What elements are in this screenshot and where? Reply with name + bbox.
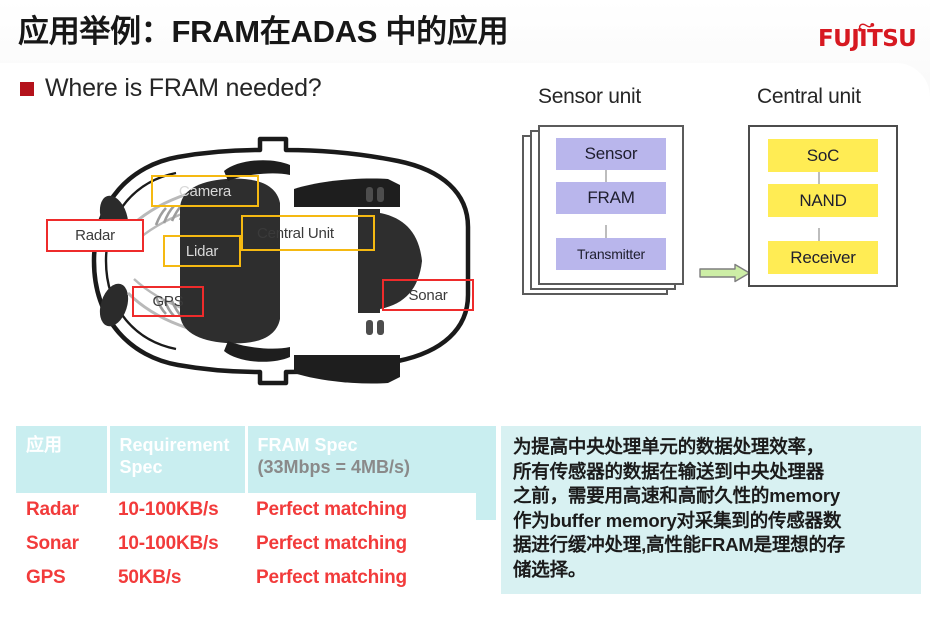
central-connector-2	[818, 228, 820, 242]
cell-fram: Perfect matching	[246, 561, 476, 595]
cell-app: GPS	[16, 561, 108, 595]
note-panel-text: 为提高中央处理单元的数据处理效率， 所有传感器的数据在输送到中央处理器 之前，需…	[513, 435, 909, 583]
sensor-block-transmitter: Transmitter	[556, 238, 666, 270]
car-label-camera: Camera	[151, 175, 259, 207]
note-panel: 为提高中央处理单元的数据处理效率， 所有传感器的数据在输送到中央处理器 之前，需…	[501, 426, 921, 594]
table-header-fram: FRAM Spec (33Mbps = 4MB/s)	[246, 426, 476, 493]
square-bullet-icon	[20, 82, 34, 96]
fujitsu-infinity-mark	[858, 23, 875, 32]
slide-canvas: 应用举例：FRAM在ADAS 中的应用 FUJITSU Where is FRA…	[0, 0, 930, 640]
table-row: Radar 10-100KB/s Perfect matching	[16, 493, 476, 527]
sensor-unit-title: Sensor unit	[538, 85, 641, 109]
car-label-radar: Radar	[46, 219, 144, 252]
sensor-card-front: Sensor FRAM Transmitter	[538, 125, 684, 285]
sensor-block-fram: FRAM	[556, 182, 666, 214]
table-row: Sonar 10-100KB/s Perfect matching	[16, 527, 476, 561]
table-header-row: 应用 Requirement Spec FRAM Spec (33Mbps = …	[16, 426, 476, 493]
car-label-gps: GPS	[132, 286, 204, 317]
central-block-receiver: Receiver	[768, 241, 878, 274]
car-label-central-unit: Central Unit	[241, 215, 375, 251]
table-header-app: 应用	[16, 426, 108, 493]
content-sheet: Where is FRAM needed?	[0, 63, 930, 640]
page-title: 应用举例：FRAM在ADAS 中的应用	[18, 6, 508, 51]
car-label-sonar: Sonar	[382, 279, 474, 311]
slide-header: 应用举例：FRAM在ADAS 中的应用 FUJITSU	[0, 0, 930, 66]
table-header-filler	[476, 426, 496, 520]
cell-app: Sonar	[16, 527, 108, 561]
car-label-central-unit-text: Central Unit	[257, 225, 334, 242]
table-header-fram-sub: (33Mbps = 4MB/s)	[258, 457, 469, 479]
car-topview-illustration	[28, 131, 498, 391]
table-row: GPS 50KB/s Perfect matching	[16, 561, 476, 595]
table-header-fram-label: FRAM Spec	[258, 435, 358, 455]
table-header-requirement: Requirement Spec	[108, 426, 246, 493]
bullet-heading-label: Where is FRAM needed?	[45, 74, 321, 103]
central-connector-1	[818, 171, 820, 185]
cell-requirement: 50KB/s	[108, 561, 246, 595]
central-unit-title: Central unit	[757, 85, 861, 109]
bullet-heading: Where is FRAM needed?	[20, 74, 321, 103]
adas-car-diagram: Radar Camera Lidar Central Unit GPS Sona…	[28, 131, 498, 391]
cell-requirement: 10-100KB/s	[108, 493, 246, 527]
data-flow-arrow	[699, 263, 751, 283]
car-label-lidar: Lidar	[163, 235, 241, 267]
sensor-block-sensor: Sensor	[556, 138, 666, 170]
fujitsu-logo: FUJITSU	[818, 24, 914, 54]
central-unit-diagram: SoC NAND Receiver	[748, 125, 898, 287]
cell-requirement: 10-100KB/s	[108, 527, 246, 561]
central-block-nand: NAND	[768, 184, 878, 217]
cell-app: Radar	[16, 493, 108, 527]
cell-fram: Perfect matching	[246, 493, 476, 527]
central-block-soc: SoC	[768, 139, 878, 172]
sensor-unit-diagram: Sensor FRAM Transmitter	[522, 125, 697, 310]
cell-fram: Perfect matching	[246, 527, 476, 561]
spec-table: 应用 Requirement Spec FRAM Spec (33Mbps = …	[16, 426, 476, 595]
sensor-connector-1	[605, 169, 607, 183]
sensor-connector-2	[605, 225, 607, 239]
